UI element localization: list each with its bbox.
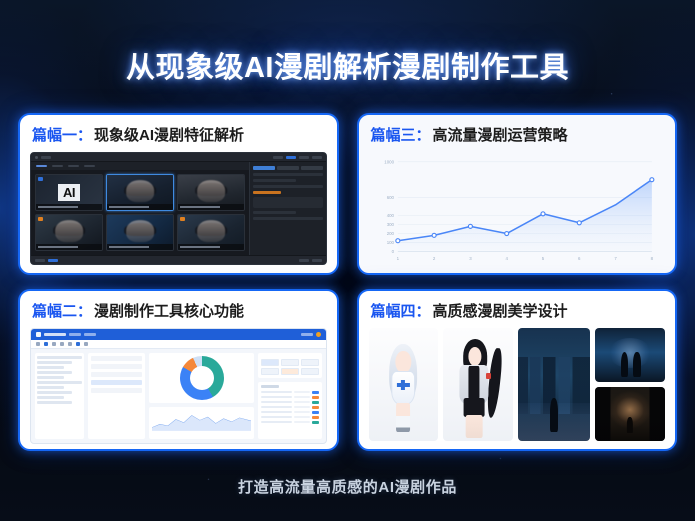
scene-art-tunnel	[595, 387, 665, 441]
menu-chip	[312, 156, 322, 159]
scene-art-column	[595, 328, 665, 441]
kpi-tile	[281, 368, 299, 375]
character-figure	[369, 328, 439, 441]
thumbnail	[177, 214, 245, 251]
card-one-header: 篇幅一： 现象级AI漫剧特征解析	[30, 124, 327, 145]
art-gallery	[369, 328, 666, 441]
card-grid: 篇幅一： 现象级AI漫剧特征解析	[18, 113, 677, 451]
editor-titlebar	[31, 153, 326, 162]
sidebar-item	[37, 356, 82, 359]
card-four-body	[369, 328, 666, 441]
toolbar-icon-active	[76, 342, 80, 346]
sidebar-item	[37, 391, 72, 394]
footer-tagline: 打造高流量高质感的AI漫剧作品	[238, 479, 457, 496]
tool-icon	[52, 165, 63, 168]
dashboard-toolbar	[31, 340, 326, 349]
sidebar-item	[37, 401, 72, 404]
card-three-index: 篇幅三：	[371, 124, 431, 145]
topbar-label	[84, 333, 96, 336]
inspector-row	[253, 211, 296, 214]
toolbar-icon	[84, 342, 88, 346]
sidebar-item	[37, 371, 72, 374]
thumbnail	[35, 214, 103, 251]
thumbnail-caption	[107, 244, 173, 250]
video-editor-screenshot: AI	[30, 152, 327, 265]
thumbnail-badge	[38, 177, 43, 181]
dashboard-topbar	[31, 329, 326, 340]
menu-chip	[41, 156, 51, 159]
toolbar-icon	[52, 342, 56, 346]
menu-chip	[273, 156, 283, 159]
kpi-tile	[281, 359, 299, 366]
app-logo-icon	[36, 332, 41, 337]
card-two-header: 篇幅二： 漫剧制作工具核心功能	[30, 300, 327, 321]
table-row	[261, 416, 318, 419]
x-tick-label: 1	[396, 256, 399, 261]
card-four-title: 高质感漫剧美学设计	[433, 300, 568, 321]
kpi-tile	[301, 368, 319, 375]
character-art-black	[443, 328, 513, 441]
kpi-tile	[261, 368, 279, 375]
card-three-header: 篇幅三： 高流量漫剧运营策略	[369, 124, 666, 145]
editor-main: AI	[31, 162, 326, 255]
dashboard-list-panel	[88, 353, 145, 439]
sidebar-item	[37, 381, 82, 384]
line-chart-svg: 01002003004006001000 12345678	[373, 156, 660, 269]
editor-toolbar	[31, 162, 249, 170]
status-chip	[312, 259, 322, 262]
chart-data-point	[540, 212, 544, 216]
character-art-white	[369, 328, 439, 441]
chart-data-point	[649, 178, 653, 182]
sidebar-item	[37, 361, 72, 364]
kpi-grid	[261, 359, 318, 375]
card-one-index: 篇幅一：	[32, 124, 92, 145]
inspector-preview	[253, 197, 323, 208]
inspector-row	[253, 179, 296, 182]
inspector-tab	[253, 166, 275, 170]
footer-container: 打造高流量高质感的AI漫剧作品	[0, 476, 695, 497]
card-two-title: 漫剧制作工具核心功能	[94, 300, 244, 321]
thumbnail-caption	[107, 204, 173, 210]
dashboard-screenshot	[30, 328, 327, 444]
page-title-container: 从现象级AI漫剧解析漫剧制作工具	[0, 44, 695, 86]
thumbnail	[106, 214, 174, 251]
kpi-tile	[301, 359, 319, 366]
card-three-title: 高流量漫剧运营策略	[433, 124, 568, 145]
thumbnail-caption	[178, 244, 244, 250]
thumbnail-grid: AI	[31, 170, 249, 255]
window-dot-icon	[35, 156, 38, 159]
y-tick-label: 400	[386, 213, 394, 218]
table-row	[261, 406, 318, 409]
status-chip	[299, 259, 309, 262]
card-one-title: 现象级AI漫剧特征解析	[94, 124, 244, 145]
x-tick-label: 6	[578, 256, 581, 261]
card-section-three[interactable]: 篇幅三： 高流量漫剧运营策略 01002003004006001000	[357, 113, 678, 275]
tool-icon	[36, 165, 47, 168]
thumbnail-caption	[178, 204, 244, 210]
x-tick-label: 3	[469, 256, 472, 261]
chart-data-point	[504, 232, 508, 236]
scene-city	[518, 328, 591, 441]
scene-art-duo	[595, 328, 665, 382]
tool-icon	[68, 165, 79, 168]
donut-chart	[180, 356, 224, 400]
list-item	[91, 364, 142, 369]
card-one-body: AI	[30, 152, 327, 265]
card-section-one[interactable]: 篇幅一： 现象级AI漫剧特征解析	[18, 113, 339, 275]
inspector-row	[253, 185, 323, 188]
scene-art-city	[518, 328, 591, 441]
y-tick-label: 600	[386, 195, 394, 200]
kpi-tile	[261, 359, 279, 366]
x-tick-label: 2	[432, 256, 435, 261]
editor-inspector	[249, 162, 326, 255]
inspector-tab	[301, 166, 323, 170]
thumbnail-selected	[106, 174, 174, 211]
table-row	[261, 391, 318, 394]
editor-statusbar	[31, 255, 326, 264]
toolbar-icon-active	[44, 342, 48, 346]
list-item	[91, 356, 142, 361]
table-row	[261, 421, 318, 424]
y-tick-label: 1000	[384, 159, 394, 164]
panel-title	[261, 385, 278, 388]
card-two-body	[30, 328, 327, 444]
topbar-label	[301, 333, 313, 336]
thumbnail-ai: AI	[35, 174, 103, 211]
tool-icon	[84, 165, 95, 168]
card-three-body: 01002003004006001000 12345678	[369, 152, 666, 271]
character-figure	[443, 328, 513, 441]
card-two-index: 篇幅二：	[32, 300, 92, 321]
list-item-selected	[91, 380, 142, 385]
sidebar-item	[37, 376, 64, 379]
slide-canvas: 从现象级AI漫剧解析漫剧制作工具 篇幅一： 现象级AI漫剧特征解析	[0, 0, 695, 521]
donut-chart-panel	[149, 353, 254, 403]
thumbnail-caption	[36, 244, 102, 250]
topbar-label	[44, 333, 66, 336]
dashboard-main	[31, 349, 326, 443]
thumbnail-badge	[180, 217, 185, 221]
card-section-four[interactable]: 篇幅四： 高质感漫剧美学设计	[357, 289, 678, 451]
chart-data-point	[432, 233, 436, 237]
scene-duo	[595, 328, 665, 382]
ai-tile-label: AI	[58, 184, 80, 201]
toolbar-icon	[68, 342, 72, 346]
menu-chip	[299, 156, 309, 159]
status-chip	[35, 259, 45, 262]
toolbar-icon	[60, 342, 64, 346]
status-chip-active	[48, 259, 58, 262]
table-row	[261, 396, 318, 399]
y-tick-label: 200	[386, 231, 394, 236]
x-tick-label: 4	[505, 256, 508, 261]
chart-data-point	[468, 224, 472, 228]
mini-area-chart	[152, 410, 251, 431]
table-row	[261, 411, 318, 414]
y-tick-label: 0	[391, 249, 394, 254]
y-tick-label: 300	[386, 222, 394, 227]
dashboard-sidebar	[35, 353, 84, 439]
data-table	[261, 391, 318, 436]
editor-library: AI	[31, 162, 249, 255]
page-title: 从现象级AI漫剧解析漫剧制作工具	[126, 44, 569, 86]
inspector-tab	[277, 166, 299, 170]
table-row	[261, 401, 318, 404]
sidebar-item	[37, 386, 64, 389]
topbar-label	[69, 333, 81, 336]
inspector-row-highlight	[253, 191, 281, 194]
sidebar-item	[37, 366, 64, 369]
menu-chip-active	[286, 156, 296, 159]
list-item	[91, 372, 142, 377]
chart-data-point	[577, 221, 581, 225]
card-four-header: 篇幅四： 高质感漫剧美学设计	[369, 300, 666, 321]
list-item	[91, 388, 142, 393]
x-tick-label: 8	[650, 256, 653, 261]
chart-y-axis-labels: 01002003004006001000	[384, 159, 394, 254]
scene-tunnel	[595, 387, 665, 441]
chart-data-point	[395, 239, 399, 243]
card-four-index: 篇幅四：	[371, 300, 431, 321]
area-chart-panel	[149, 407, 254, 439]
y-tick-label: 100	[386, 240, 394, 245]
card-section-two[interactable]: 篇幅二： 漫剧制作工具核心功能	[18, 289, 339, 451]
inspector-row	[253, 217, 323, 220]
dashboard-charts	[149, 353, 254, 439]
sidebar-item	[37, 396, 64, 399]
inspector-tabs	[253, 166, 323, 170]
table-panel	[258, 382, 321, 439]
thumbnail-caption	[36, 204, 102, 210]
kpi-panel	[258, 353, 321, 378]
x-tick-label: 7	[614, 256, 617, 261]
thumbnail-badge	[38, 217, 43, 221]
thumbnail	[177, 174, 245, 211]
chart-x-axis-labels: 12345678	[396, 256, 653, 261]
toolbar-icon	[36, 342, 40, 346]
line-chart: 01002003004006001000 12345678	[369, 152, 666, 271]
inspector-row	[253, 173, 323, 176]
x-tick-label: 5	[541, 256, 544, 261]
avatar	[316, 332, 321, 337]
dashboard-right-rail	[258, 353, 321, 439]
